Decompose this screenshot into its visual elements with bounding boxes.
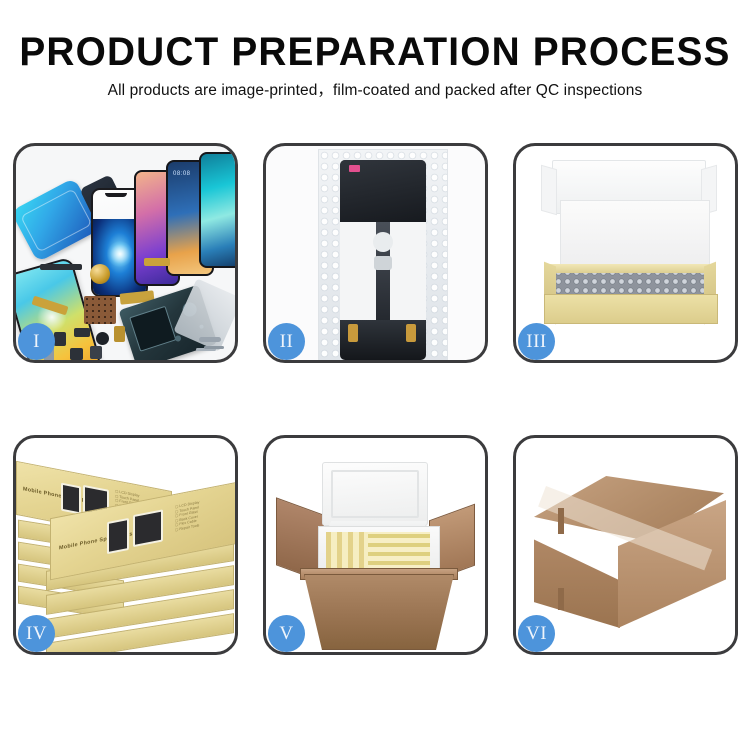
- step-badge-2: II: [268, 323, 305, 360]
- gold-connector-part: [144, 258, 170, 266]
- step-badge-4: IV: [18, 615, 55, 652]
- small-part-2: [54, 332, 66, 346]
- carton-body: [304, 574, 454, 650]
- retail-box-checklist-b: ▢ LCD Display ▢ Touch Panel ▢ Front Glas…: [175, 500, 199, 532]
- box-screen-icon-a1: [61, 483, 81, 515]
- lcd-pad-round: [373, 232, 393, 252]
- foam-sheet: [560, 200, 710, 274]
- step-badge-1: I: [18, 323, 55, 360]
- step-panel-5[interactable]: V: [263, 435, 488, 655]
- small-part-4: [96, 332, 109, 345]
- carton-seam-lower: [558, 588, 564, 610]
- page-subtitle: All products are image-printed，film-coat…: [0, 81, 750, 101]
- flex-strip-part: [40, 264, 82, 270]
- process-step-grid: 08:08 I: [13, 143, 737, 738]
- step-badge-3: III: [518, 323, 555, 360]
- step-panel-6[interactable]: VI: [513, 435, 738, 655]
- carton-left-face: [534, 520, 620, 628]
- chip-array-part: [84, 296, 116, 324]
- qc-sticker: [349, 165, 360, 172]
- small-part-3: [74, 328, 90, 337]
- gold-contact-right: [406, 324, 416, 342]
- inner-box-front-wall: [544, 294, 718, 324]
- page-title: PRODUCT PREPARATION PROCESS: [11, 30, 739, 74]
- step-panel-2[interactable]: II: [263, 143, 488, 363]
- box-screen-icon-b2: [133, 509, 163, 547]
- foam-box-lid: [322, 462, 428, 526]
- small-part-8: [90, 346, 102, 359]
- page-header: PRODUCT PREPARATION PROCESS All products…: [0, 0, 750, 101]
- gold-contact-left: [348, 324, 358, 342]
- small-part-5: [114, 326, 125, 342]
- lcd-pad-square: [374, 256, 392, 270]
- screws-part: [199, 337, 221, 342]
- step-panel-4[interactable]: Mobile Phone Spare Parts ▢ LCD Display ▢…: [13, 435, 238, 655]
- step-badge-5: V: [268, 615, 305, 652]
- step-panel-1[interactable]: 08:08 I: [13, 143, 238, 363]
- box-screen-icon-b1: [107, 518, 129, 554]
- lcd-screen-assembly: [340, 160, 426, 360]
- speaker-coil-part: [90, 264, 110, 284]
- carton-seam-upper: [558, 508, 564, 534]
- inner-box-rim: [546, 264, 714, 273]
- step-badge-6: VI: [518, 615, 555, 652]
- phone-teal: [199, 152, 235, 268]
- step-panel-3[interactable]: III: [513, 143, 738, 363]
- small-part-7: [70, 348, 83, 360]
